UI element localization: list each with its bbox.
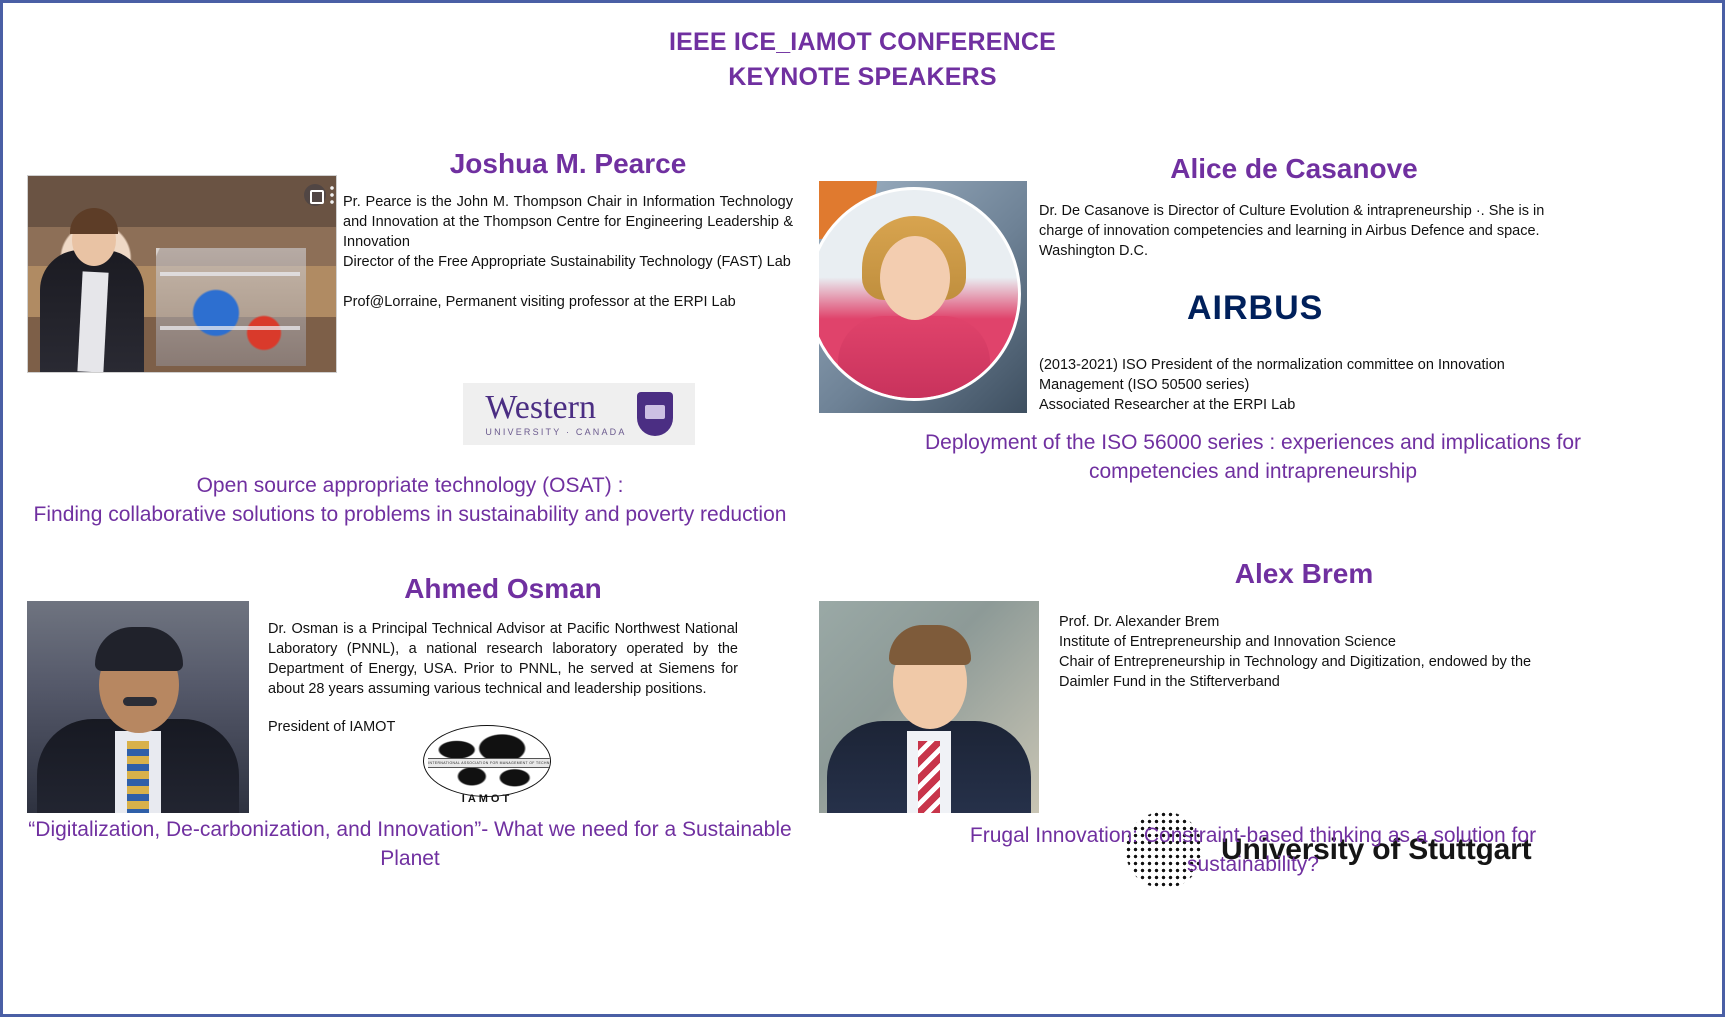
- western-shield-icon: [637, 392, 673, 436]
- western-university-logo: Western UNIVERSITY · CANADA: [463, 383, 695, 445]
- crop-icon[interactable]: [304, 184, 326, 206]
- person-moustache: [123, 697, 157, 706]
- talk-title-alex-brem: Frugal Innovation: Constraint-based thin…: [903, 821, 1603, 879]
- person-hair: [70, 208, 118, 234]
- joshua-pearce-photo: [27, 175, 337, 373]
- alex-brem-photo: [819, 601, 1039, 813]
- speaker-card-joshua-pearce: Joshua M. Pearce Pr. Pearce is the John …: [343, 148, 793, 312]
- speaker-bio: Dr. Osman is a Principal Technical Advis…: [268, 619, 738, 699]
- speaker-name: Ahmed Osman: [268, 573, 738, 605]
- western-subtitle: UNIVERSITY · CANADA: [485, 427, 626, 437]
- speaker-card-ahmed-osman: Ahmed Osman Dr. Osman is a Principal Tec…: [268, 573, 738, 737]
- speaker-card-alice-de-casanove: Alice de Casanove Dr. De Casanove is Dir…: [1039, 153, 1549, 261]
- western-wordmark: Western: [485, 391, 626, 425]
- speaker-name: Alice de Casanove: [1039, 153, 1549, 185]
- speaker-bio: Pr. Pearce is the John M. Thompson Chair…: [343, 192, 793, 272]
- 3d-printer-shape: [156, 248, 306, 366]
- airbus-logo: AIRBUS: [1187, 289, 1323, 328]
- speaker-name: Joshua M. Pearce: [343, 148, 793, 180]
- page-title: IEEE ICE_IAMOT CONFERENCE KEYNOTE SPEAKE…: [3, 25, 1722, 95]
- alice-de-casanove-photo: [819, 181, 1027, 413]
- deck-title-line1: IEEE ICE_IAMOT CONFERENCE: [669, 28, 1056, 56]
- person-hair: [889, 625, 971, 665]
- ahmed-osman-photo: [27, 601, 249, 813]
- deck-title-line2: KEYNOTE SPEAKERS: [3, 60, 1722, 95]
- speaker-bio: Prof. Dr. Alexander Brem Institute of En…: [1059, 612, 1549, 692]
- speaker-card-alex-brem: Alex Brem Prof. Dr. Alexander Brem Insti…: [1059, 558, 1549, 692]
- more-options-icon[interactable]: [330, 186, 334, 204]
- person-torso: [838, 316, 990, 401]
- talk-title-joshua-pearce: Open source appropriate technology (OSAT…: [27, 471, 793, 529]
- speaker-bio-extra: Prof@Lorraine, Permanent visiting profes…: [343, 292, 793, 312]
- iamot-band: INTERNATIONAL ASSOCIATION FOR MANAGEMENT…: [428, 758, 551, 768]
- iamot-wordmark: IAMOT: [415, 793, 559, 805]
- keynote-speakers-slide: IEEE ICE_IAMOT CONFERENCE KEYNOTE SPEAKE…: [0, 0, 1725, 1017]
- round-portrait-mask: [819, 187, 1021, 401]
- person-shirt: [77, 271, 108, 372]
- person-head: [880, 236, 950, 320]
- printer-rail-bottom: [160, 326, 300, 330]
- person-tie: [127, 741, 149, 813]
- person-tie: [918, 741, 940, 813]
- talk-title-alice-de-casanove: Deployment of the ISO 56000 series : exp…: [903, 428, 1603, 486]
- talk-title-ahmed-osman: “Digitalization, De-carbonization, and I…: [27, 815, 793, 873]
- iamot-logo: INTERNATIONAL ASSOCIATION FOR MANAGEMENT…: [415, 721, 559, 813]
- printer-rail-top: [160, 272, 300, 276]
- speaker-bio-extra-alice: (2013-2021) ISO President of the normali…: [1039, 355, 1549, 415]
- speaker-name: Alex Brem: [1059, 558, 1549, 590]
- speaker-bio: Dr. De Casanove is Director of Culture E…: [1039, 201, 1549, 261]
- iamot-band-text: INTERNATIONAL ASSOCIATION FOR MANAGEMENT…: [428, 759, 551, 768]
- person-hair: [95, 627, 183, 671]
- world-map-icon: INTERNATIONAL ASSOCIATION FOR MANAGEMENT…: [423, 725, 551, 797]
